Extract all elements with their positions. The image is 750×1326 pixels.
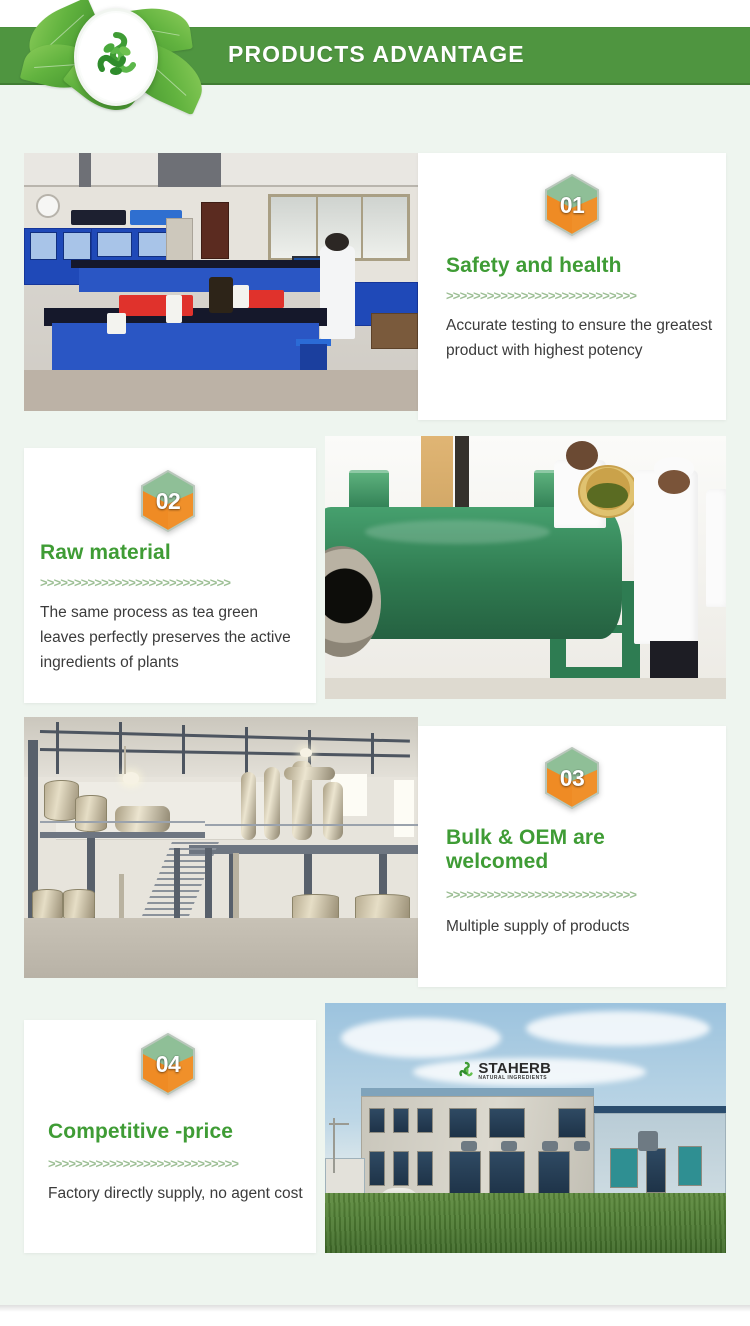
advantage-text-2: Raw material >>>>>>>>>>>>>>>>>>>>>>>>>>>…: [40, 541, 306, 675]
page-title: PRODUCTS ADVANTAGE: [228, 41, 525, 68]
advantage-text-4: Competitive -price >>>>>>>>>>>>>>>>>>>>>…: [48, 1120, 310, 1206]
hexagon-number-badge-icon: 03: [545, 747, 599, 809]
advantage-badge-4: 04: [141, 1033, 195, 1095]
advantage-text-1: Safety and health >>>>>>>>>>>>>>>>>>>>>>…: [446, 254, 714, 363]
photo-quality-control-laboratory: [24, 153, 418, 411]
advantage-body: Multiple supply of products: [446, 914, 696, 939]
photo-green-roasting-drum-machine: [325, 436, 726, 699]
advantage-body: Accurate testing to ensure the greatest …: [446, 313, 714, 363]
photo-staherb-factory-building: STAHERB NATURAL INGREDIENTS: [325, 1003, 726, 1253]
badge-number: 02: [141, 470, 195, 532]
advantage-badge-2: 02: [141, 470, 195, 532]
advantage-row-2: 02 Raw material >>>>>>>>>>>>>>>>>>>>>>>>…: [24, 436, 726, 703]
advantage-card-3: 03 Bulk & OEM are welcomed >>>>>>>>>>>>>…: [418, 726, 726, 987]
advantage-heading: Bulk & OEM are welcomed: [446, 826, 696, 874]
advantage-text-3: Bulk & OEM are welcomed >>>>>>>>>>>>>>>>…: [446, 826, 696, 939]
advantage-badge-3: 03: [545, 747, 599, 809]
advantage-card-1: 01 Safety and health >>>>>>>>>>>>>>>>>>>…: [418, 153, 726, 420]
brand-logo-cluster: [24, 2, 224, 114]
chevron-divider: >>>>>>>>>>>>>>>>>>>>>>>>>>>>: [446, 288, 714, 303]
staherb-leaf-swirl-logo-icon: [457, 1061, 474, 1081]
advantage-card-2: 02 Raw material >>>>>>>>>>>>>>>>>>>>>>>>…: [24, 448, 316, 703]
advantage-heading: Safety and health: [446, 254, 714, 278]
advantage-row-4: 04 Competitive -price >>>>>>>>>>>>>>>>>>…: [24, 1003, 726, 1253]
hexagon-number-badge-icon: 01: [545, 174, 599, 236]
chevron-divider: >>>>>>>>>>>>>>>>>>>>>>>>>>>>: [446, 887, 696, 902]
building-sign-subtitle: NATURAL INGREDIENTS: [478, 1076, 551, 1081]
advantage-heading: Raw material: [40, 541, 306, 565]
badge-number: 01: [545, 174, 599, 236]
advantage-body: The same process as tea green leaves per…: [40, 600, 306, 675]
advantage-row-3: 03 Bulk & OEM are welcomed >>>>>>>>>>>>>…: [24, 717, 726, 987]
building-sign-name: STAHERB: [478, 1061, 551, 1076]
chevron-divider: >>>>>>>>>>>>>>>>>>>>>>>>>>>>: [48, 1156, 310, 1171]
badge-number: 03: [545, 747, 599, 809]
chevron-divider: >>>>>>>>>>>>>>>>>>>>>>>>>>>>: [40, 575, 306, 590]
advantage-badge-1: 01: [545, 174, 599, 236]
advantage-heading: Competitive -price: [48, 1120, 310, 1144]
products-advantage-page: PRODUCTS ADVANTAGE: [0, 0, 750, 1326]
advantage-body: Factory directly supply, no agent cost: [48, 1181, 310, 1206]
page-bottom-shadow: [0, 1305, 750, 1326]
hexagon-number-badge-icon: 04: [141, 1033, 195, 1095]
hexagon-number-badge-icon: 02: [141, 470, 195, 532]
photo-extraction-plant-workshop: [24, 717, 418, 978]
building-sign: STAHERB NATURAL INGREDIENTS: [457, 1061, 551, 1081]
advantage-card-4: 04 Competitive -price >>>>>>>>>>>>>>>>>>…: [24, 1020, 316, 1253]
badge-number: 04: [141, 1033, 195, 1095]
advantage-row-1: 01 Safety and health >>>>>>>>>>>>>>>>>>>…: [24, 153, 726, 420]
page-header: PRODUCTS ADVANTAGE: [0, 0, 750, 120]
staherb-leaf-swirl-logo-icon: [74, 8, 158, 106]
